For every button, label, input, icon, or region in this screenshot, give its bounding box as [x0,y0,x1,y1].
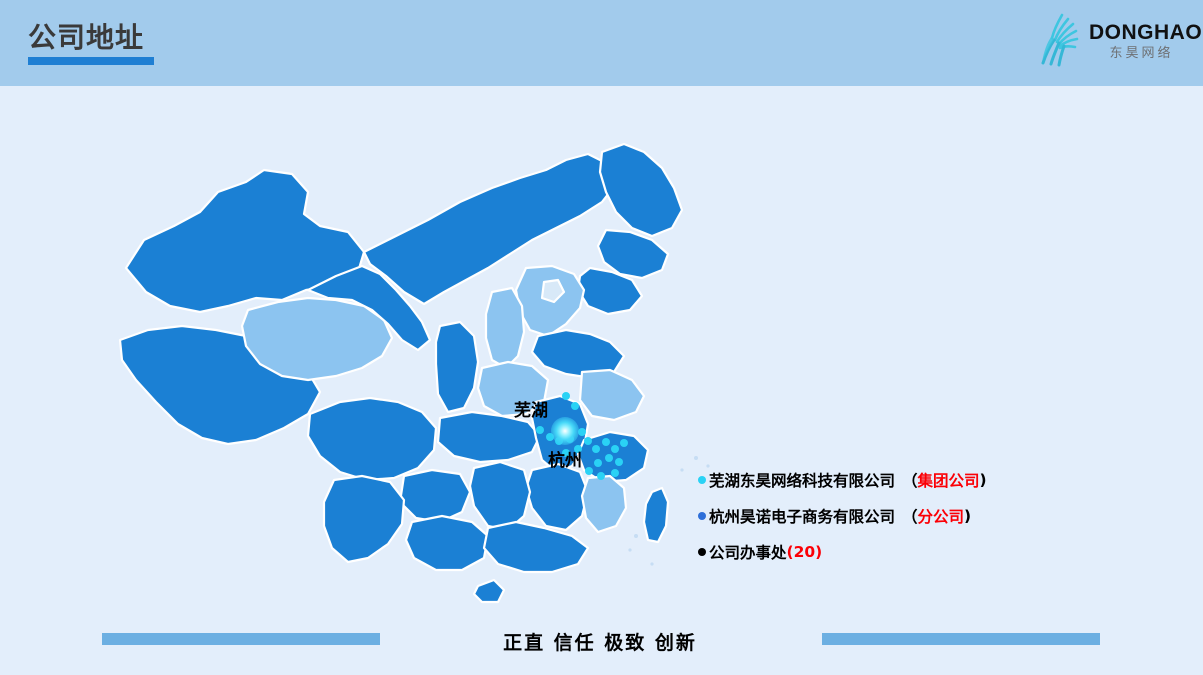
office-dot [585,467,593,475]
province-guangxi [406,516,488,570]
legend-bullet-black [698,548,706,556]
province-shanxi [486,288,524,368]
legend-tag: 集团公司 [918,469,980,491]
office-dot [592,445,600,453]
company-logo[interactable]: DONGHAO 东昊网络 [1031,10,1191,74]
title-underline [28,57,154,65]
province-taiwan [644,488,668,542]
office-dot [594,459,602,467]
legend-label: 公司办事处 [709,541,787,563]
city-label-wuhu: 芜湖 [514,402,548,420]
legend-close-paren: ) [964,507,971,525]
office-dot [605,454,613,462]
legend-open-paren: （ [902,505,918,527]
feather-fan-icon [1031,10,1091,70]
legend-label: 芜湖东昊网络科技有限公司 [709,469,895,491]
legend-item-offices[interactable]: 公司办事处 (20) [698,534,1118,570]
province-heilongjiang [600,144,682,236]
province-guangdong [484,522,588,572]
province-fujian [582,476,626,532]
office-dot [602,438,610,446]
province-hainan [474,580,504,602]
province-hunan [470,462,530,530]
office-dot [615,458,623,466]
province-guizhou [400,470,470,522]
slide-canvas: 公司地址 DONG [0,0,1203,675]
page-title: 公司地址 [28,22,160,54]
legend-label: 杭州昊诺电子商务有限公司 [709,505,895,527]
office-dot [562,392,570,400]
province-sichuan [308,398,436,480]
title-block: 公司地址 [28,22,160,65]
legend: 芜湖东昊网络科技有限公司 （ 集团公司 ) 杭州昊诺电子商务有限公司 （ 分公司… [698,462,1118,570]
office-dot [597,472,605,480]
province-yunnan [324,476,404,562]
office-dot [571,402,579,410]
legend-close-paren: ) [980,471,987,489]
logo-name: DONGHAO [1089,22,1191,44]
city-label-hangzhou: 杭州 [548,452,582,470]
legend-bullet-blue [698,512,706,520]
province-shaanxi [436,322,478,412]
province-jiangsu [580,370,644,420]
logo-subname: 东昊网络 [1089,45,1191,61]
legend-tag: (20) [787,543,823,561]
header-band: 公司地址 DONG [0,0,1203,86]
logo-text: DONGHAO 东昊网络 [1089,22,1191,61]
footer-bar-right [822,633,1100,645]
legend-tag: 分公司 [918,505,965,527]
office-dot [620,439,628,447]
legend-item-group-company[interactable]: 芜湖东昊网络科技有限公司 （ 集团公司 ) [698,462,1118,498]
office-dot [611,445,619,453]
province-qinghai [242,298,392,380]
office-dot [584,437,592,445]
wuhu-headquarters-marker[interactable] [551,417,579,445]
office-dot [611,469,619,477]
legend-bullet-cyan [698,476,706,484]
legend-open-paren: （ [902,469,918,491]
china-provinces-map[interactable] [96,140,736,610]
province-jiangxi [526,464,588,530]
legend-item-branch-company[interactable]: 杭州昊诺电子商务有限公司 （ 分公司 ) [698,498,1118,534]
footer-bar-left [102,633,380,645]
footer-slogan: 正直 信任 极致 创新 [400,628,800,655]
office-dot [536,426,544,434]
office-dot [578,428,586,436]
map-container[interactable]: 芜湖 杭州 [96,140,736,610]
